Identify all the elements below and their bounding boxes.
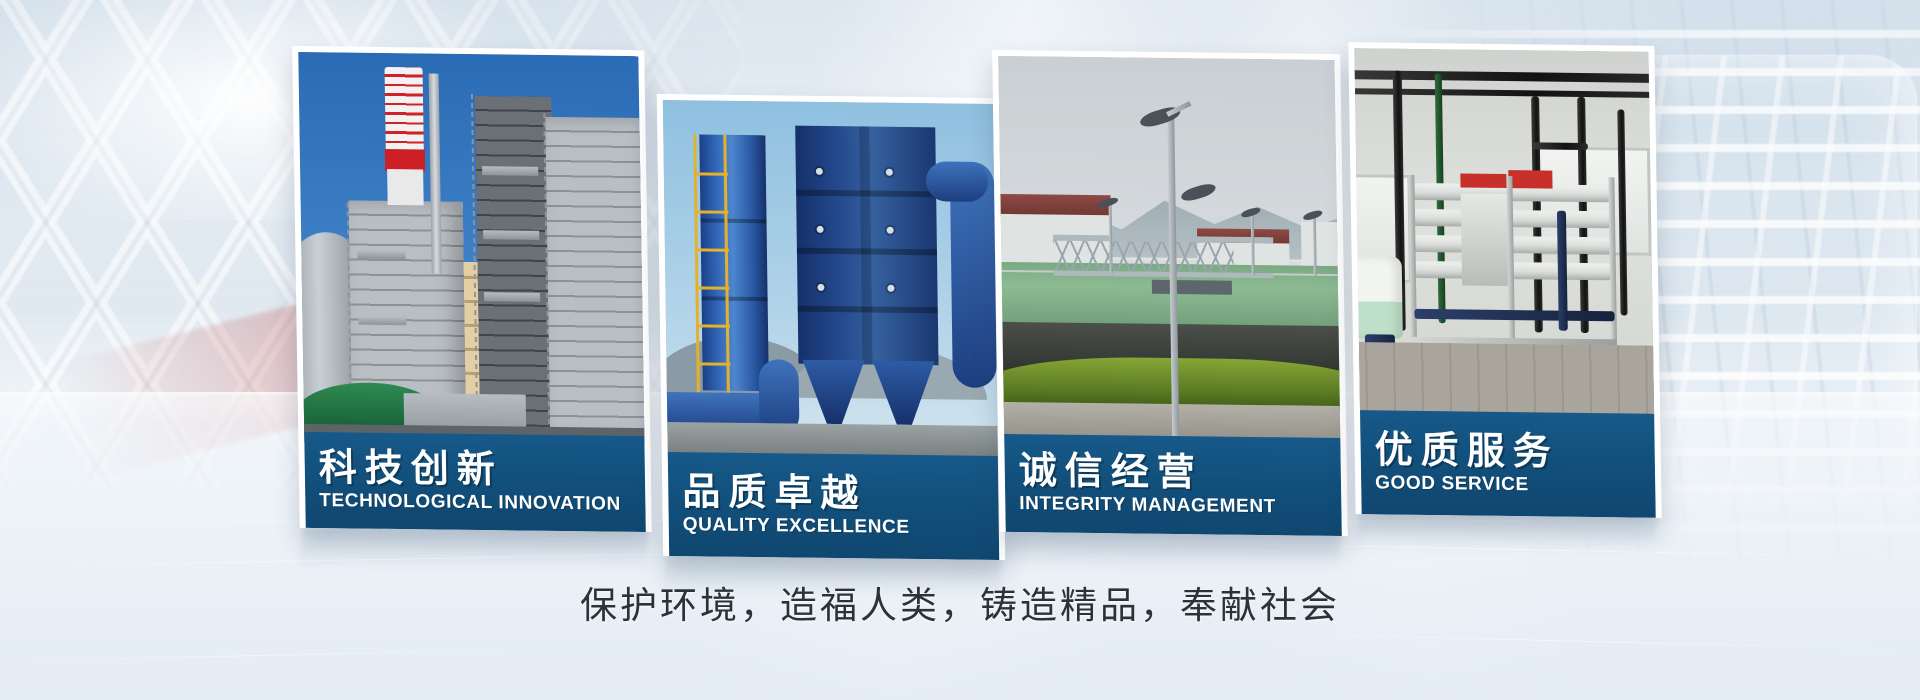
panel-en-title-4: GOOD SERVICE — [1375, 472, 1655, 497]
panel-caption-technological-innovation: 科技创新 TECHNOLOGICAL INNOVATION — [304, 432, 646, 532]
panel-cn-title-2: 品质卓越 — [682, 472, 999, 517]
panel-en-title-1: TECHNOLOGICAL INNOVATION — [319, 490, 645, 516]
feature-panel-technological-innovation[interactable]: 科技创新 TECHNOLOGICAL INNOVATION — [292, 46, 652, 532]
panel-cn-title-3: 诚信经营 — [1018, 451, 1341, 496]
feature-panel-integrity-management[interactable]: 诚信经营 INTEGRITY MANAGEMENT — [992, 50, 1348, 536]
panel-cn-title-4: 优质服务 — [1374, 430, 1655, 474]
panel-reflection-1 — [297, 527, 648, 579]
feature-panel-good-service[interactable]: 优质服务 GOOD SERVICE — [1348, 42, 1662, 518]
feature-panel-quality-excellence[interactable]: 品质卓越 QUALITY EXCELLENCE — [657, 94, 1006, 560]
panel-caption-good-service: 优质服务 GOOD SERVICE — [1360, 410, 1656, 518]
panel-en-title-3: INTEGRITY MANAGEMENT — [1019, 493, 1341, 519]
panel-caption-integrity-management: 诚信经营 INTEGRITY MANAGEMENT — [1004, 434, 1342, 536]
panel-en-title-2: QUALITY EXCELLENCE — [683, 514, 999, 540]
panel-caption-quality-excellence: 品质卓越 QUALITY EXCELLENCE — [668, 452, 1000, 560]
banner-tagline: 保护环境，造福人类，铸造精品，奉献社会 — [0, 575, 1920, 629]
banner-stage: 科技创新 TECHNOLOGICAL INNOVATION — [0, 0, 1920, 700]
panel-cn-title-1: 科技创新 — [318, 448, 645, 493]
